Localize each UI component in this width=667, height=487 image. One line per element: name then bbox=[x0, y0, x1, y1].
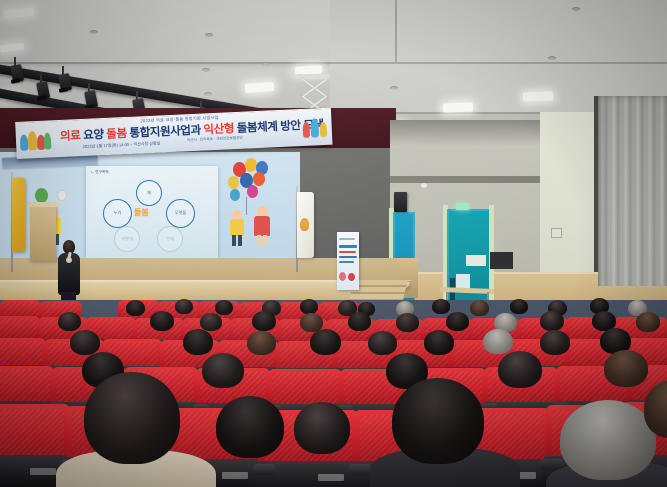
ceiling-seam bbox=[395, 0, 397, 62]
audience-head bbox=[58, 312, 81, 331]
audience-head bbox=[200, 313, 222, 331]
slide-bubble: 누가 bbox=[103, 199, 132, 228]
slide-header: ㄴ 연구목적 bbox=[91, 170, 109, 175]
audience-head bbox=[446, 312, 469, 331]
audience-head bbox=[175, 299, 193, 314]
backdrop-balloon bbox=[247, 185, 258, 198]
audience-head bbox=[636, 312, 660, 332]
banner-illustration-left bbox=[19, 125, 52, 152]
audience-head bbox=[510, 299, 528, 314]
backdrop-balloon bbox=[230, 189, 240, 201]
audience-head-foreground bbox=[294, 402, 350, 454]
backdrop-balloon bbox=[35, 188, 48, 203]
slide-bubble: 왜 bbox=[136, 180, 162, 206]
downlight-dot bbox=[90, 30, 98, 34]
audience-head-foreground bbox=[392, 378, 484, 464]
rollup-banner bbox=[337, 232, 359, 290]
ceiling-light bbox=[245, 82, 275, 93]
downlight-dot bbox=[204, 92, 212, 96]
backdrop-balloon bbox=[253, 172, 265, 186]
downlight-dot bbox=[205, 33, 213, 37]
banner-illustration-right bbox=[302, 114, 329, 139]
side-paper bbox=[466, 255, 486, 266]
ceiling-sensor-icon bbox=[421, 183, 427, 188]
backdrop-balloon bbox=[57, 190, 67, 201]
slide-bubble: 무엇을 bbox=[166, 199, 195, 228]
wall-outlet bbox=[551, 228, 562, 238]
backdrop-balloon bbox=[228, 176, 239, 189]
audience-head bbox=[368, 331, 397, 355]
audience-head bbox=[396, 313, 419, 332]
backdrop-child-illustration bbox=[228, 210, 246, 246]
downlight-dot bbox=[390, 86, 398, 90]
backdrop-balloon bbox=[245, 158, 257, 172]
backdrop-child-illustration bbox=[252, 206, 272, 246]
audience-head bbox=[470, 300, 489, 316]
audience-head bbox=[70, 330, 100, 355]
audience-head-foreground bbox=[216, 396, 284, 458]
audience-head bbox=[247, 331, 276, 355]
audience-head bbox=[300, 299, 318, 314]
audience-head bbox=[183, 329, 213, 355]
audience-head bbox=[215, 300, 233, 315]
wall-speaker-icon bbox=[394, 192, 407, 212]
audience-head-foreground bbox=[560, 400, 656, 480]
podium-top bbox=[27, 202, 59, 207]
audience-head bbox=[202, 353, 244, 388]
audience-head bbox=[252, 311, 276, 331]
ceiling-seam bbox=[0, 62, 667, 64]
audience-head bbox=[150, 311, 174, 331]
podium bbox=[30, 205, 56, 261]
white-flag bbox=[297, 192, 314, 258]
audience-head bbox=[310, 329, 341, 355]
projection-screen: ㄴ 연구목적 왜 누가 무엇을 어떻게 언제 돌봄 bbox=[86, 166, 218, 258]
audience-head bbox=[432, 299, 450, 314]
audience-head bbox=[348, 312, 371, 331]
audience-head bbox=[540, 330, 570, 355]
auditorium-photo: ㄴ 연구목적 왜 누가 무엇을 어떻게 언제 돌봄 2023년 의료·요양·돌봄… bbox=[0, 0, 667, 487]
downlight-dot bbox=[202, 68, 210, 72]
ceiling-light bbox=[523, 91, 553, 101]
exit-sign-icon bbox=[456, 203, 469, 210]
downlight-dot bbox=[572, 7, 580, 11]
slide-bubble: 어떻게 bbox=[114, 226, 140, 252]
side-monitor bbox=[490, 252, 513, 269]
audience-head-foreground bbox=[84, 372, 180, 464]
ceiling-light bbox=[443, 102, 473, 112]
downlight-dot bbox=[262, 62, 270, 66]
banner-logo-line: 익산시 · 전라북도 · 국민건강보험공단 bbox=[187, 136, 243, 144]
audience-head bbox=[498, 351, 542, 388]
audience-head bbox=[604, 350, 648, 387]
slide-center-label: 돌봄 bbox=[134, 207, 149, 218]
slide-bubble: 언제 bbox=[157, 226, 183, 252]
audience-head bbox=[424, 330, 454, 355]
audience-head bbox=[540, 311, 564, 331]
audience-head bbox=[483, 329, 513, 354]
gold-flag bbox=[12, 178, 25, 252]
audience-head bbox=[126, 300, 145, 316]
downlight-dot bbox=[548, 56, 556, 60]
